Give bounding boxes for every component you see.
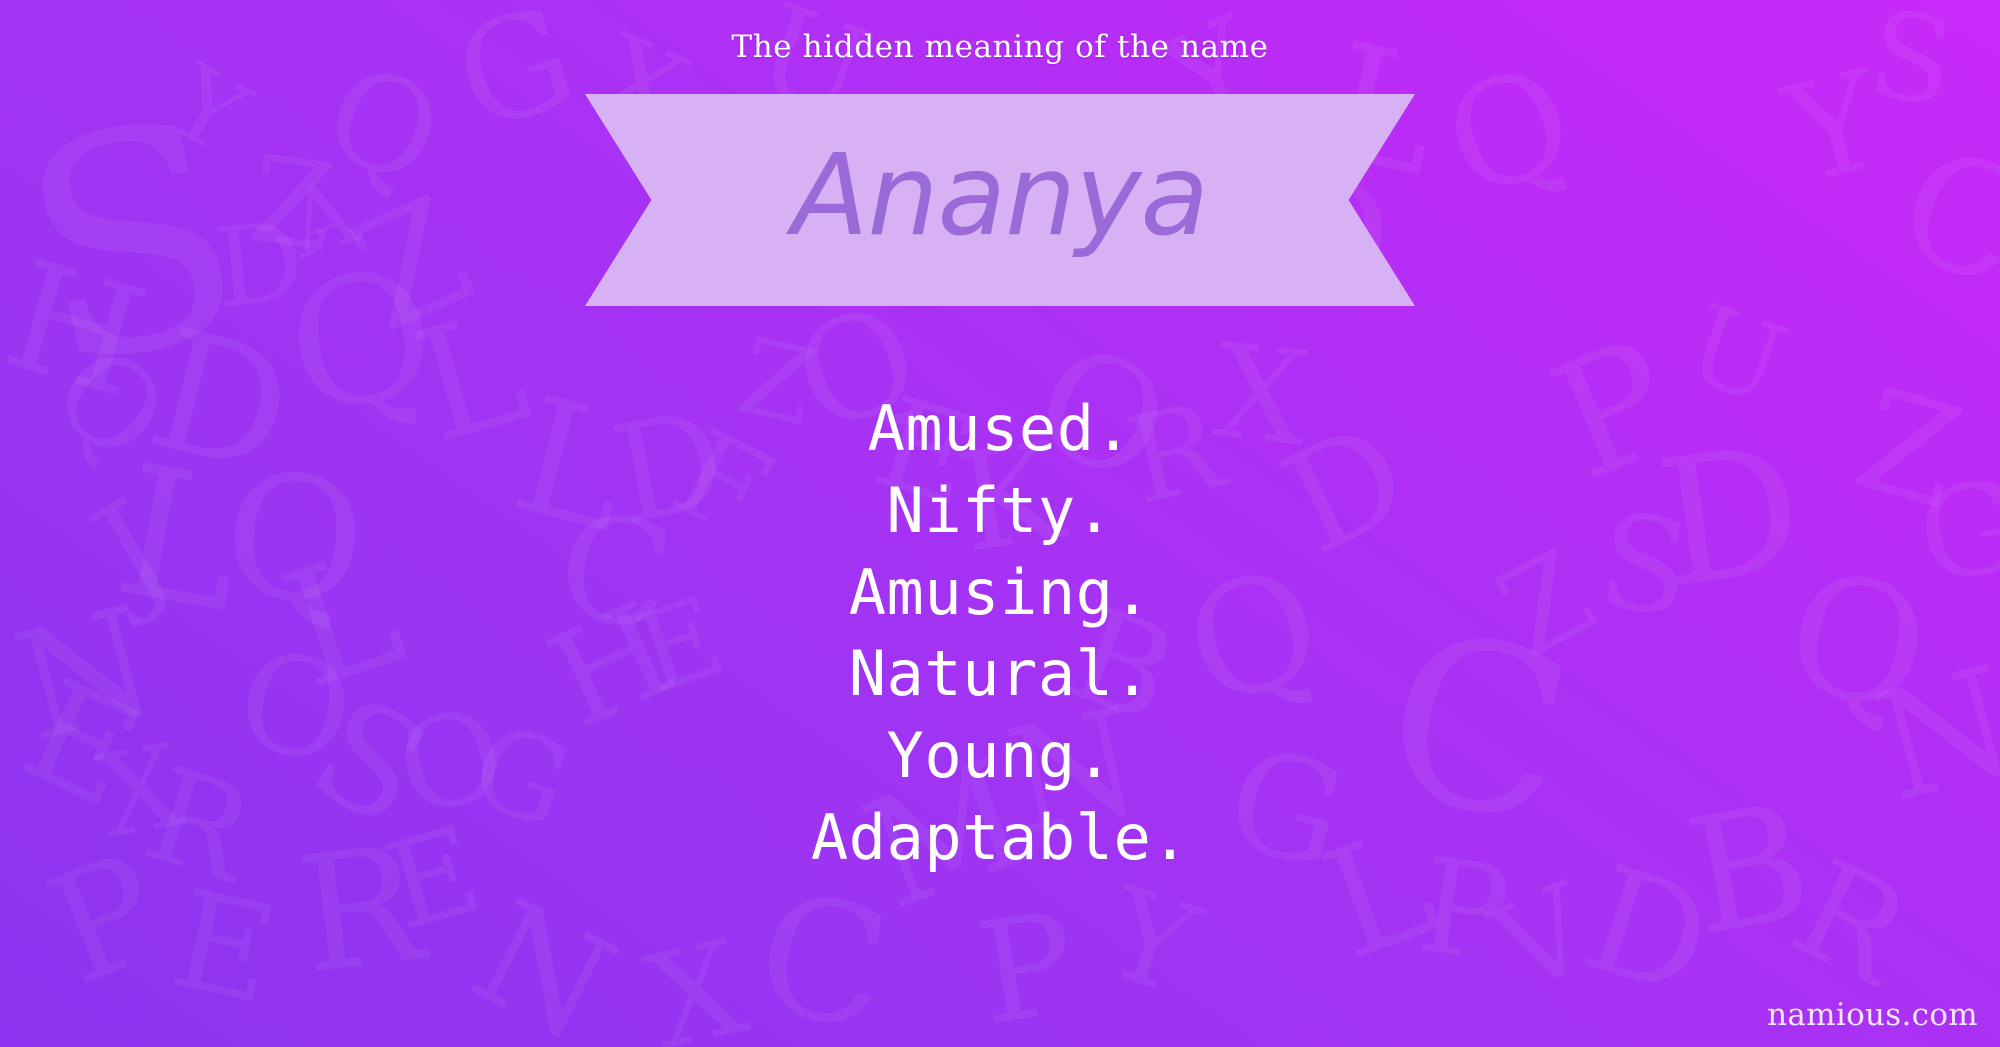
name-meaning-card: SHZDQAYZDQQNLJQLEXRPERSOGHCELDFLZQEKORXD… [0, 0, 2000, 1047]
meaning-line: Natural. [0, 633, 2000, 715]
watermark-letter: Z [334, 175, 490, 354]
site-watermark: namious.com [1767, 997, 1978, 1033]
watermark-letter: G [442, 0, 590, 153]
watermark-letter: Q [310, 45, 458, 205]
watermark-letter: P [970, 893, 1085, 1046]
watermark-letter: C [1880, 123, 2000, 311]
watermark-letter: D [209, 206, 308, 325]
meaning-line: Adaptable. [0, 797, 2000, 879]
watermark-letter: V [1479, 868, 1607, 1013]
meaning-line: Nifty. [0, 470, 2000, 552]
watermark-letter: C [747, 870, 900, 1047]
watermark-letter: Q [1430, 45, 1590, 221]
watermark-letter: N [454, 879, 633, 1047]
watermark-letter: E [162, 871, 286, 1024]
meaning-line: Amusing. [0, 552, 2000, 634]
watermark-letter: A [278, 167, 368, 273]
watermark-letter: Y [1775, 51, 1894, 204]
name-text: Ananya [585, 94, 1415, 306]
name-ribbon-banner: Ananya [585, 94, 1415, 306]
watermark-letter: X [637, 921, 756, 1047]
meanings-list: Amused.Nifty.Amusing.Natural.Young.Adapt… [0, 388, 2000, 879]
watermark-letter: Y [154, 50, 261, 170]
meaning-line: Young. [0, 715, 2000, 797]
meaning-line: Amused. [0, 388, 2000, 470]
page-title: The hidden meaning of the name [0, 29, 2000, 65]
watermark-letter: Z [242, 140, 341, 270]
watermark-letter: S [1, 77, 264, 413]
watermark-letter: Y [1093, 870, 1210, 1014]
